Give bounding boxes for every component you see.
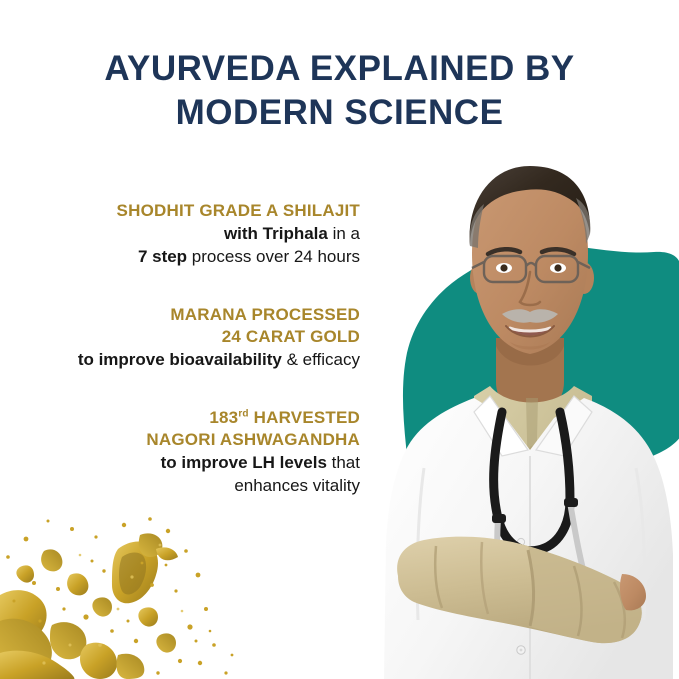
- harvest-label: HARVESTED: [249, 408, 360, 427]
- harvest-ordinal-suffix: rd: [238, 408, 248, 419]
- feature-ashwagandha-body-line-1: to improve LH levels that: [0, 451, 360, 474]
- feature-ashwagandha: 183rd HARVESTED NAGORI ASHWAGANDHA to im…: [0, 407, 360, 497]
- feature-shilajit-emphasis-2: 7 step: [138, 247, 187, 266]
- feature-gold-emphasis: to improve bioavailability: [78, 350, 282, 369]
- feature-gold-heading-line-2: 24 CARAT GOLD: [0, 326, 360, 348]
- feature-shilajit-body-line-2: 7 step process over 24 hours: [0, 245, 360, 268]
- feature-ashwagandha-heading-line-1: 183rd HARVESTED: [0, 407, 360, 429]
- feature-gold-body: to improve bioavailability & efficacy: [0, 348, 360, 371]
- feature-list: SHODHIT GRADE A SHILAJIT with Triphala i…: [0, 200, 360, 497]
- gold-flakes-decoration: [0, 505, 245, 679]
- feature-ashwagandha-body-line-2: enhances vitality: [0, 474, 360, 497]
- feature-shilajit-emphasis-1: with Triphala: [224, 224, 328, 243]
- feature-shilajit-heading: SHODHIT GRADE A SHILAJIT: [0, 200, 360, 222]
- ayurveda-poster: AYURVEDA EXPLAINED BY MODERN SCIENCE SHO…: [0, 0, 679, 679]
- feature-gold: MARANA PROCESSED 24 CARAT GOLD to improv…: [0, 304, 360, 371]
- feature-shilajit-text-1: in a: [328, 224, 360, 243]
- feature-gold-heading-line-1: MARANA PROCESSED: [0, 304, 360, 326]
- feature-shilajit-body-line-1: with Triphala in a: [0, 222, 360, 245]
- feature-ashwagandha-text-1: that: [327, 453, 360, 472]
- feature-shilajit-text-2: process over 24 hours: [187, 247, 360, 266]
- title-line-2: MODERN SCIENCE: [0, 91, 679, 135]
- harvest-number: 183: [209, 408, 238, 427]
- feature-ashwagandha-heading-line-2: NAGORI ASHWAGANDHA: [0, 429, 360, 451]
- doctor-portrait: [378, 150, 679, 679]
- feature-gold-text: & efficacy: [282, 350, 360, 369]
- poster-title: AYURVEDA EXPLAINED BY MODERN SCIENCE: [0, 47, 679, 135]
- feature-shilajit: SHODHIT GRADE A SHILAJIT with Triphala i…: [0, 200, 360, 268]
- feature-ashwagandha-emphasis: to improve LH levels: [161, 453, 327, 472]
- title-line-1: AYURVEDA EXPLAINED BY: [0, 47, 679, 91]
